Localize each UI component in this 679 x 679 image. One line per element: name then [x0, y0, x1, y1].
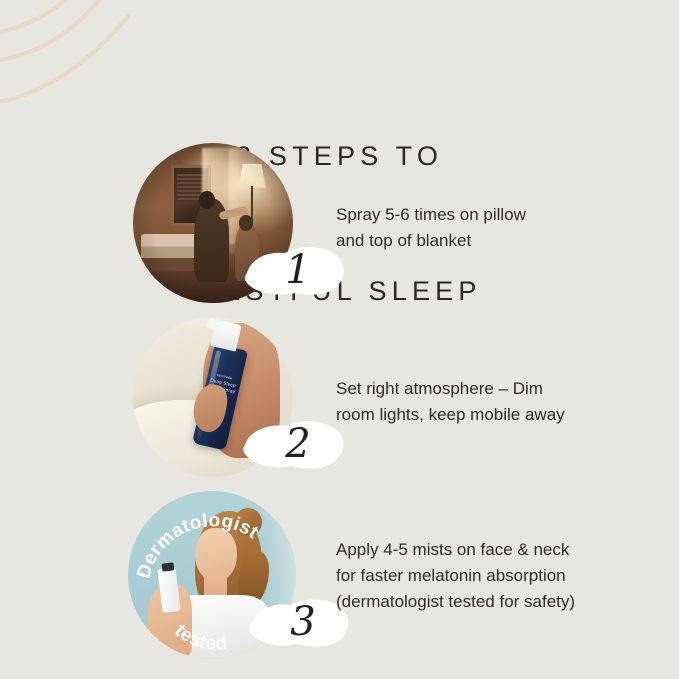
step-3-image-wrap: Dermatologist tested 3: [128, 491, 296, 659]
step-3-description: Apply 4-5 mists on face & neck for faste…: [336, 537, 646, 615]
steps-list: 1 Spray 5-6 times on pillow and top of b…: [0, 143, 679, 667]
face-mist-photo: Dermatologist tested: [128, 491, 296, 659]
step-2-line-2: room lights, keep mobile away: [336, 402, 646, 428]
spray-nozzle-tip-shape: [207, 317, 222, 329]
step-3-line-1: Apply 4-5 mists on face & neck: [336, 537, 646, 563]
spray-bottle-photo: ayurveda Deep Sleep Pillow Spray: [133, 317, 293, 477]
step-2-line-1: Set right atmosphere – Dim: [336, 376, 646, 402]
step-2-description: Set right atmosphere – Dim room lights, …: [336, 376, 646, 428]
step-3-line-3: (dermatologist tested for safety): [336, 589, 646, 615]
step-item: Dermatologist tested 3 Apply 4-5 mists o…: [0, 491, 679, 667]
step-3-line-2: for faster melatonin absorption: [336, 563, 646, 589]
step-item: ayurveda Deep Sleep Pillow Spray 2: [0, 317, 679, 491]
sleep-steps-infographic: 3 STEPS TO RESTFUL SLEEP: [0, 0, 679, 679]
step-2-image-wrap: ayurveda Deep Sleep Pillow Spray 2: [133, 317, 293, 477]
step-1-line-1: Spray 5-6 times on pillow: [336, 202, 646, 228]
step-1-line-2: and top of blanket: [336, 228, 646, 254]
step-1-image-wrap: 1: [133, 143, 293, 303]
photo-vignette: [133, 143, 293, 303]
step-item: 1 Spray 5-6 times on pillow and top of b…: [0, 143, 679, 317]
step-1-description: Spray 5-6 times on pillow and top of bla…: [336, 202, 646, 254]
bedroom-scene-photo: [133, 143, 293, 303]
